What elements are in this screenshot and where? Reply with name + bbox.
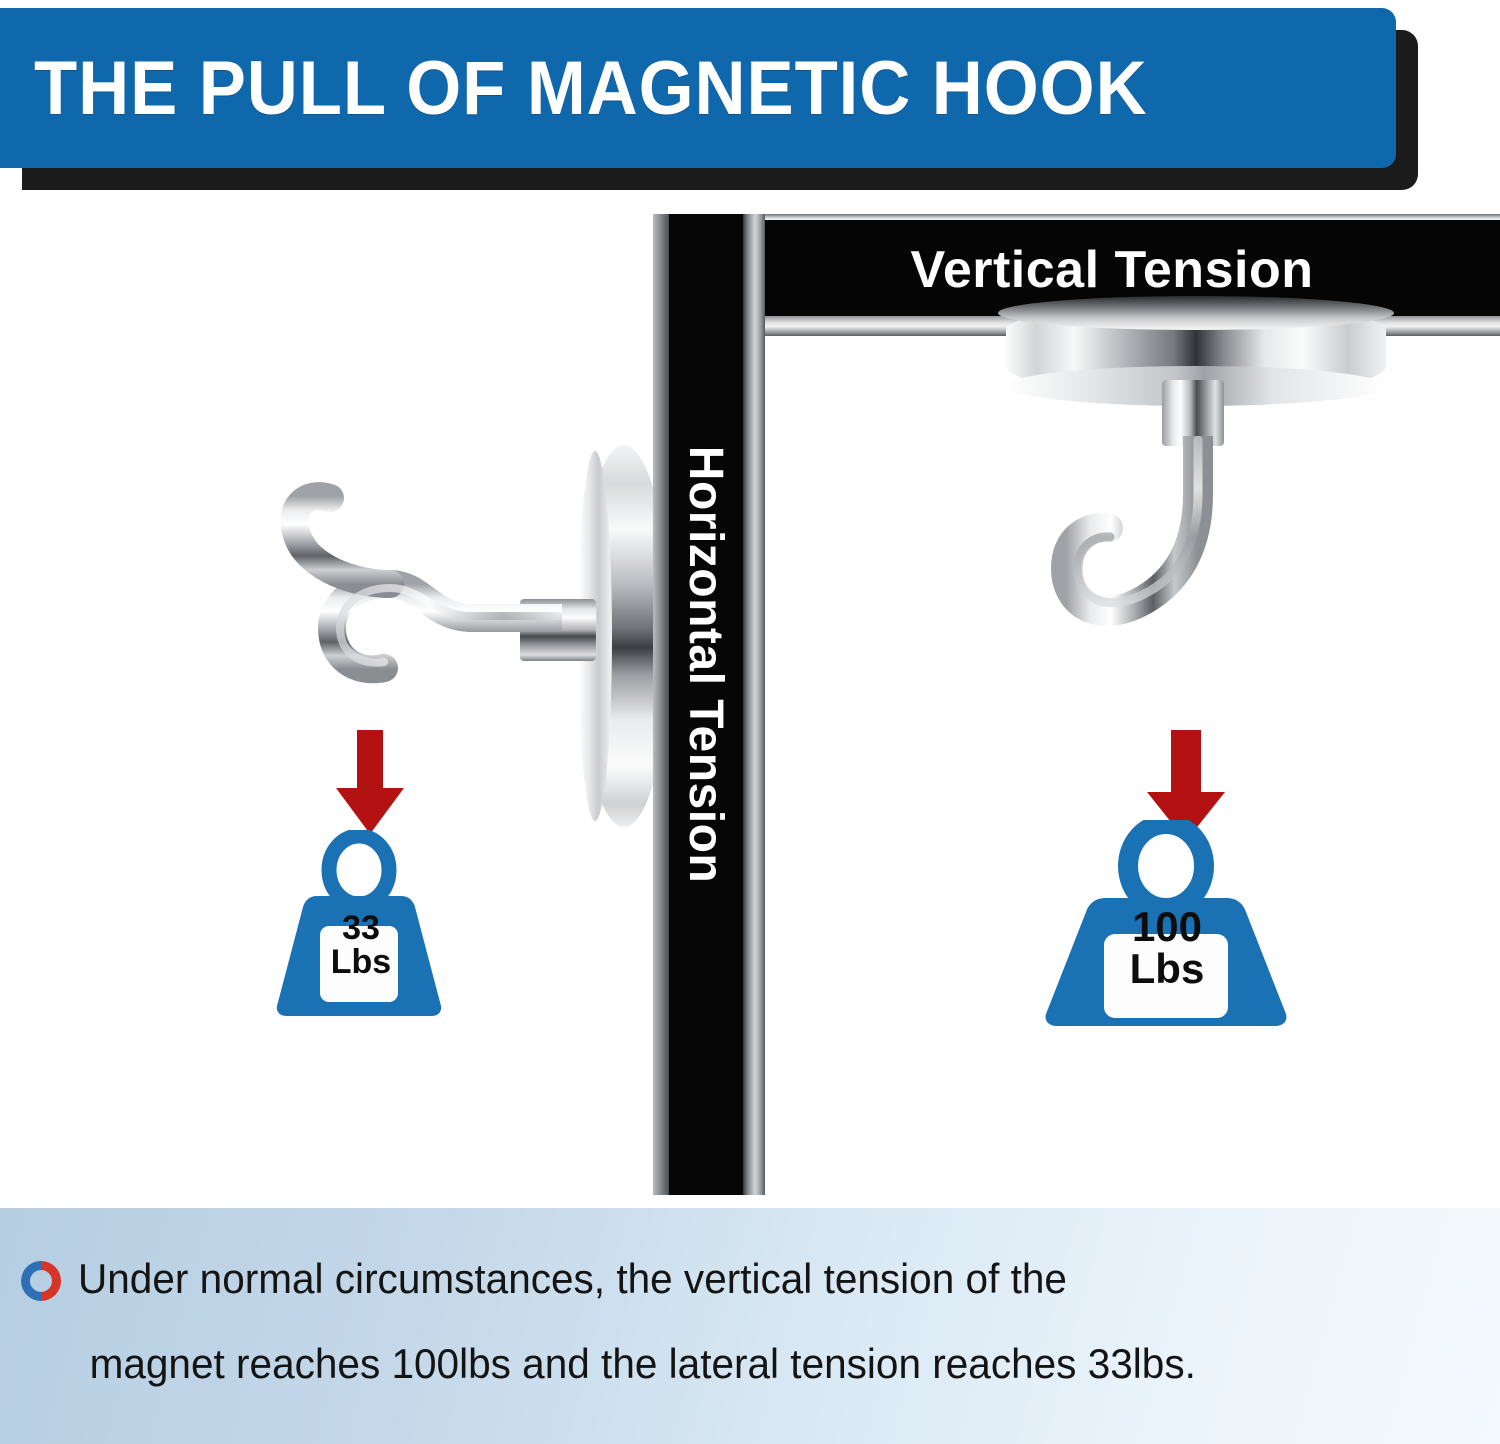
down-arrow-icon	[330, 730, 410, 835]
horizontal-hook-icon	[272, 476, 562, 696]
horizontal-tension-label-text: Horizontal Tension	[679, 445, 734, 882]
horizontal-tension-label: Horizontal Tension	[669, 214, 743, 1114]
weight-33lbs-icon: 33 Lbs	[270, 830, 448, 1020]
wall-bar: Horizontal Tension	[653, 214, 765, 1195]
caption-text: Under normal circumstances, the vertical…	[78, 1236, 1429, 1406]
weight-100lbs-unit: Lbs	[1130, 948, 1205, 990]
weight-33lbs-value: 33	[342, 911, 380, 945]
weight-100lbs-icon: 100 Lbs	[1030, 820, 1302, 1030]
vertical-hook-icon	[1010, 436, 1300, 696]
header-banner: THE PULL OF MAGNETIC HOOK	[0, 8, 1418, 190]
wall-bar-left-edge	[653, 214, 669, 1195]
magnet-poles-ring-icon	[18, 1258, 64, 1304]
page-title: THE PULL OF MAGNETIC HOOK	[34, 8, 1148, 168]
header-banner-plate: THE PULL OF MAGNETIC HOOK	[0, 8, 1396, 168]
weight-100lbs-text: 100 Lbs	[1108, 902, 1226, 994]
wall-bar-right-edge	[743, 214, 765, 1195]
tension-diagram: Vertical Tension	[0, 190, 1500, 1208]
weight-100lbs-value: 100	[1132, 906, 1202, 948]
caption-line-2: magnet reaches 100lbs and the lateral te…	[90, 1321, 1429, 1406]
vertical-magnet-disc-top-face	[998, 296, 1394, 330]
caption-line-1: Under normal circumstances, the vertical…	[78, 1236, 1429, 1321]
weight-33lbs-text: 33 Lbs	[324, 904, 398, 986]
weight-33lbs-unit: Lbs	[331, 945, 391, 979]
